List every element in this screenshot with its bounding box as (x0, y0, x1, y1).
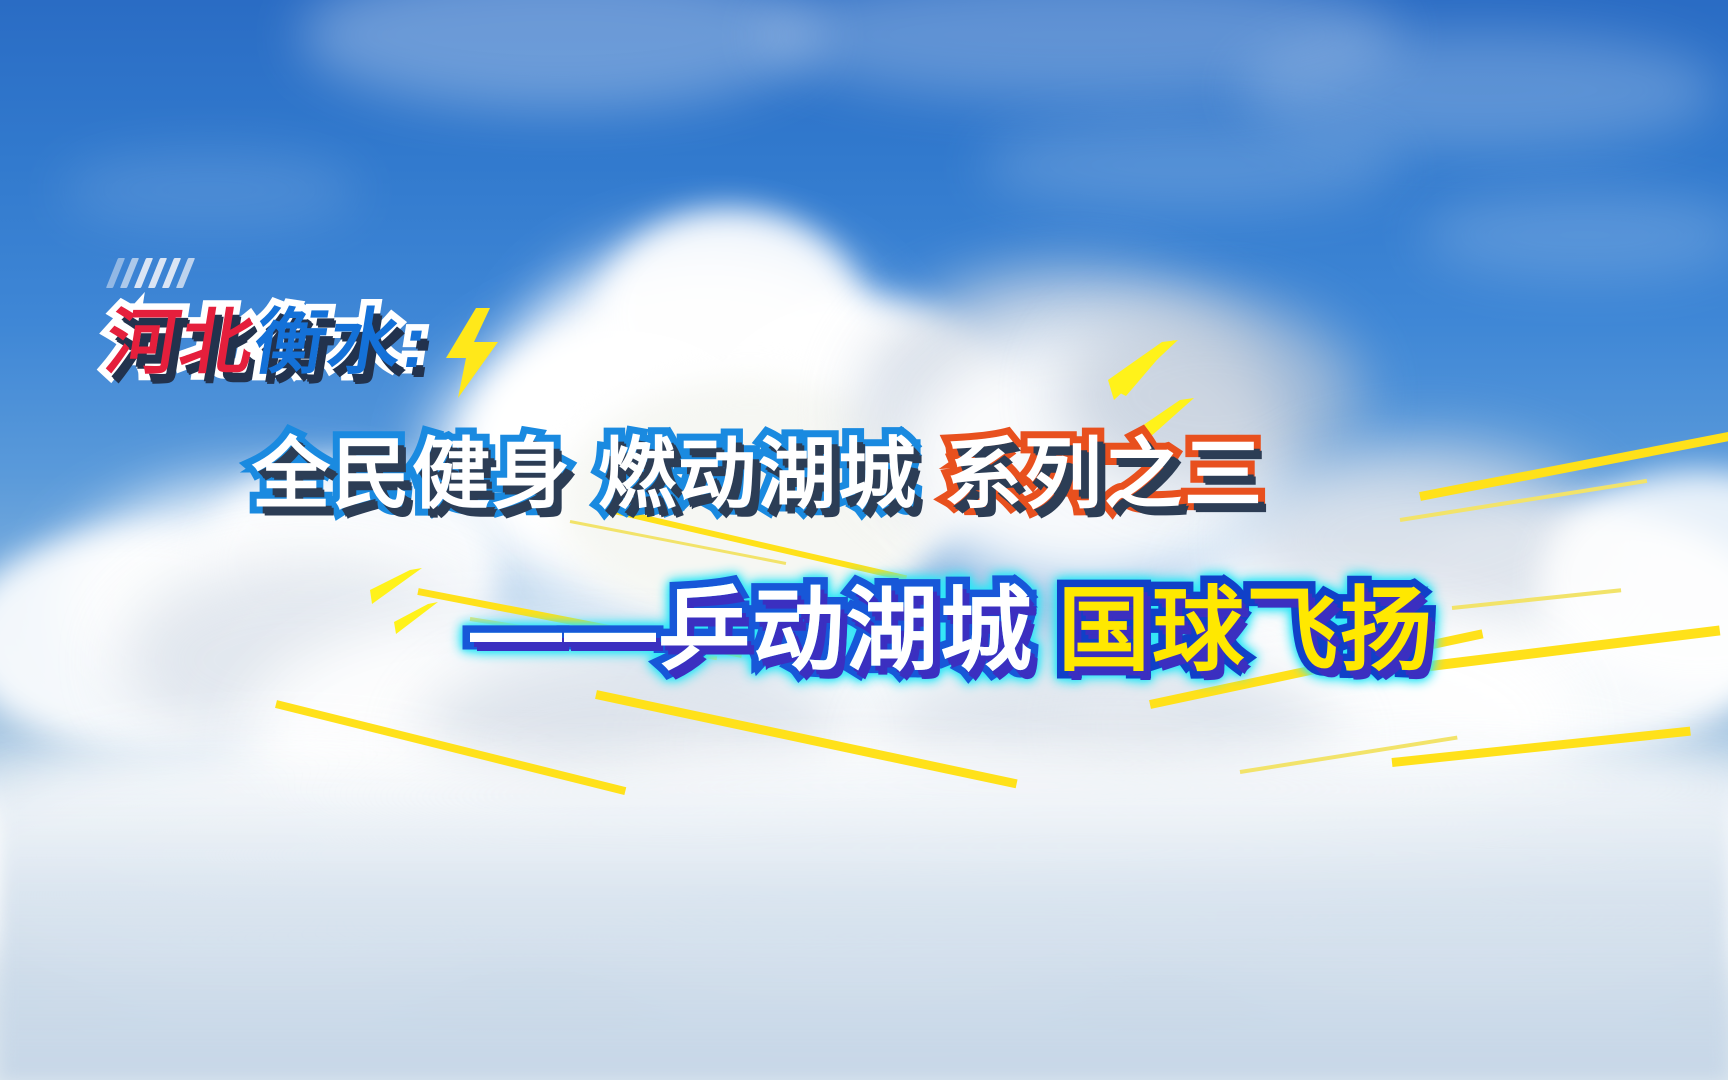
title-line1-segment-hebei: 河北 (100, 283, 265, 388)
title-line2-segment-randong-hucheng: 燃动湖城 (598, 412, 918, 524)
title-line2-segment-xilie-zhisan: 系列之三 (944, 412, 1264, 524)
title-line2-segment-quanmin-jianshen: 全民健身 (252, 412, 572, 524)
title-line3-segment-guoqiu-feiyang: 国球飞扬 (1058, 556, 1434, 689)
title-line-2: 全民健身燃动湖城系列之三 (252, 412, 1264, 524)
title-line1-segment-hengshui: 衡水: (248, 283, 439, 388)
title-card-stage: 河北衡水: 全民健身燃动湖城系列之三 ——乒动湖城国球飞扬 (0, 0, 1728, 1080)
title-line-3: ——乒动湖城国球飞扬 (470, 556, 1434, 689)
title-line3-segment-pingdong-hucheng: ——乒动湖城 (470, 556, 1034, 689)
title-text-block: 河北衡水: 全民健身燃动湖城系列之三 ——乒动湖城国球飞扬 (0, 0, 1728, 1080)
title-line-1: 河北衡水: (100, 283, 439, 388)
